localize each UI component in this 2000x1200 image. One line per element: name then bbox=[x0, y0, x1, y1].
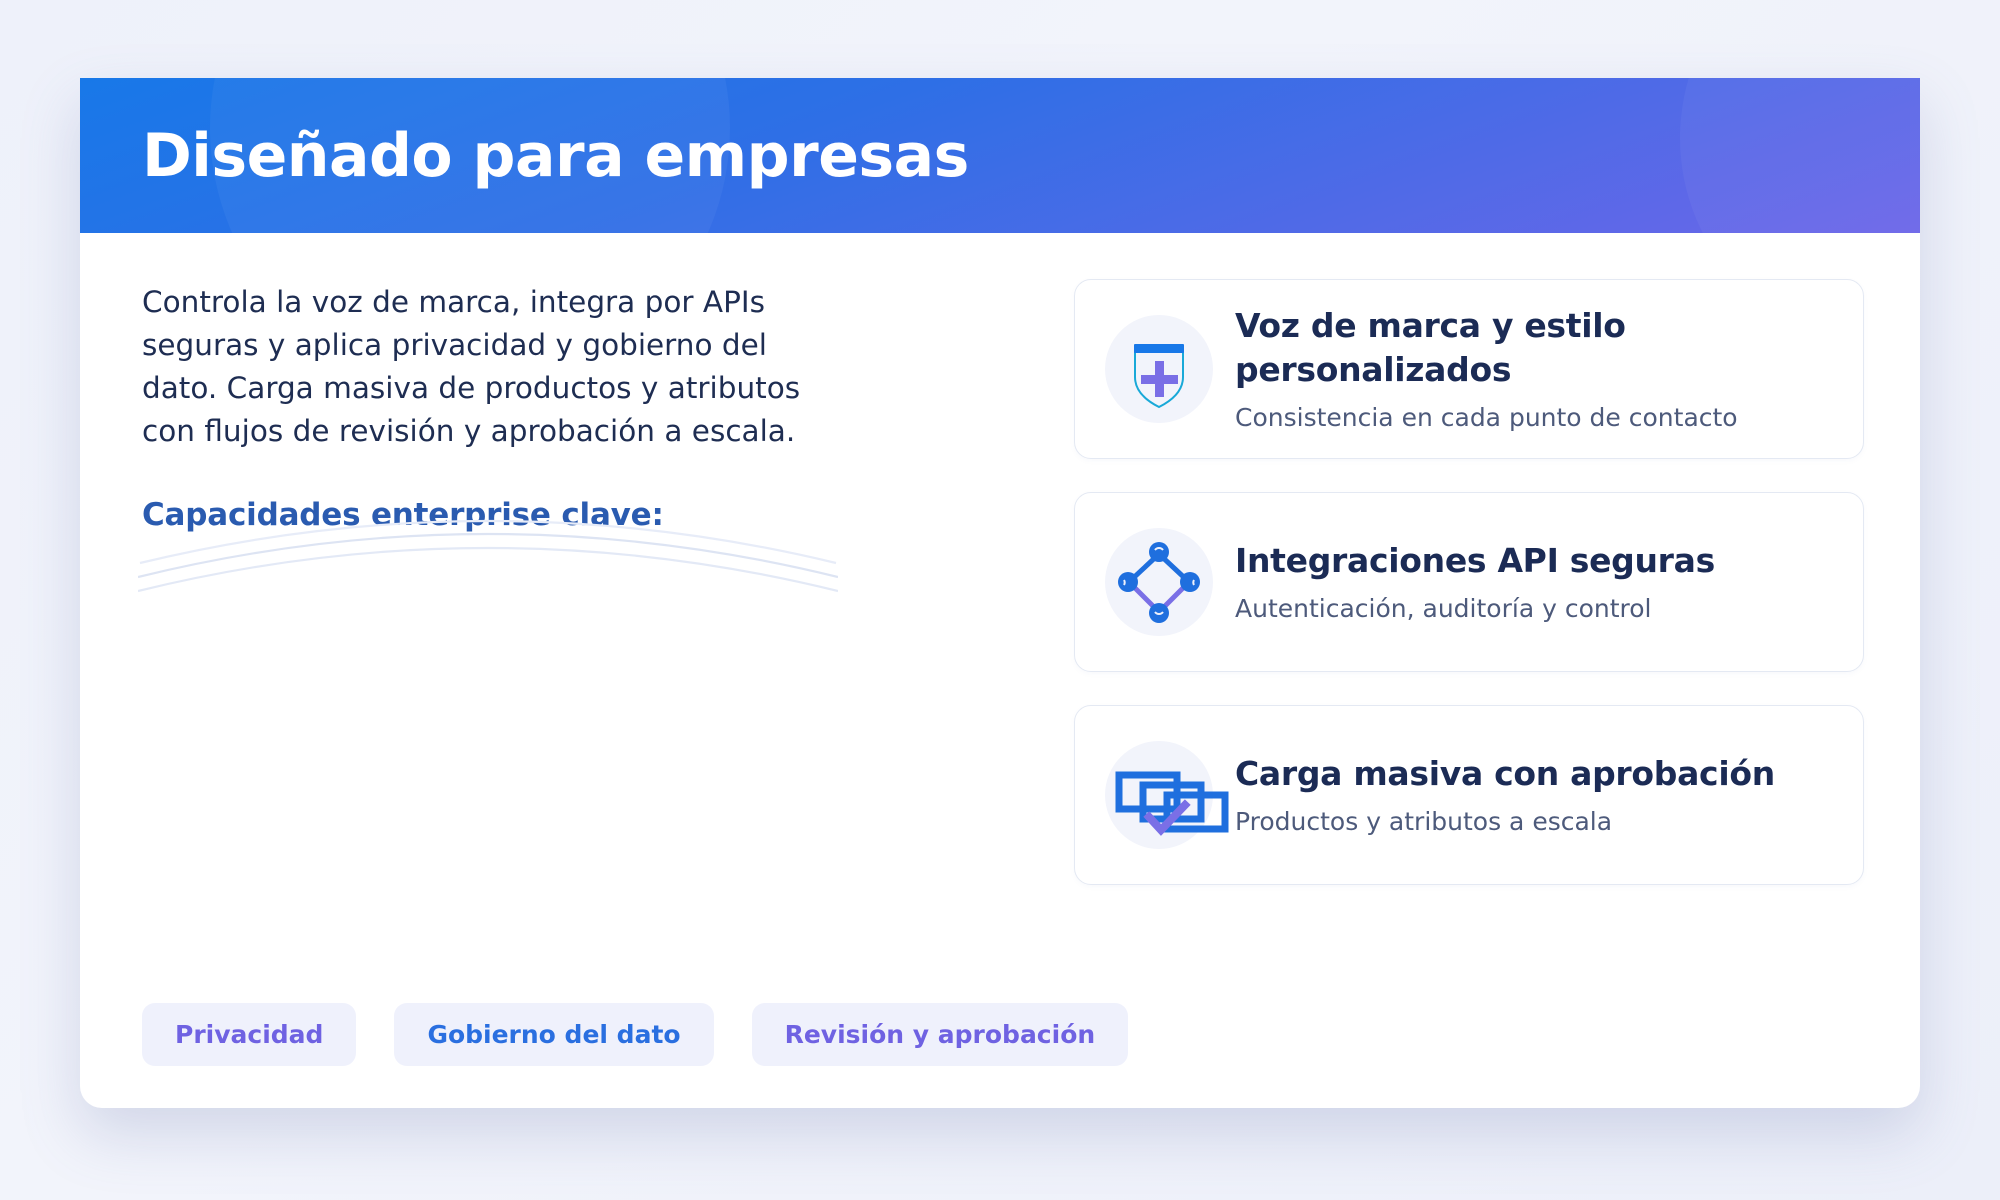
feature-subtitle: Autenticación, auditoría y control bbox=[1235, 593, 1715, 625]
tag-chip-row: Privacidad Gobierno del dato Revisión y … bbox=[142, 1003, 1128, 1066]
page-title: Diseñado para empresas bbox=[142, 121, 969, 191]
feature-card-list: Voz de marca y estilo personalizados Con… bbox=[1074, 279, 1864, 885]
feature-card-api-integrations[interactable]: Integraciones API seguras Autenticación,… bbox=[1074, 492, 1864, 672]
bulk-upload-check-icon bbox=[1105, 741, 1213, 849]
feature-subtitle: Consistencia en cada punto de contacto bbox=[1235, 402, 1833, 434]
feature-text: Voz de marca y estilo personalizados Con… bbox=[1235, 304, 1833, 434]
slide-header: Diseñado para empresas bbox=[80, 78, 1920, 233]
api-network-nodes-icon bbox=[1105, 528, 1213, 636]
feature-text: Integraciones API seguras Autenticación,… bbox=[1235, 539, 1715, 625]
feature-title: Carga masiva con aprobación bbox=[1235, 752, 1775, 796]
feature-title: Voz de marca y estilo personalizados bbox=[1235, 304, 1833, 392]
feature-title: Integraciones API seguras bbox=[1235, 539, 1715, 583]
lead-paragraph: Controla la voz de marca, integra por AP… bbox=[142, 281, 842, 453]
feature-subtitle: Productos y atributos a escala bbox=[1235, 806, 1775, 838]
chip-gobierno-del-dato[interactable]: Gobierno del dato bbox=[394, 1003, 713, 1066]
feature-card-bulk-upload[interactable]: Carga masiva con aprobación Productos y … bbox=[1074, 705, 1864, 885]
header-glow-circle-secondary bbox=[1680, 78, 1920, 233]
slide-card: Diseñado para empresas Controla la voz d… bbox=[80, 78, 1920, 1108]
section-heading: Capacidades enterprise clave: bbox=[142, 497, 992, 533]
chip-revision-y-aprobacion[interactable]: Revisión y aprobación bbox=[752, 1003, 1129, 1066]
feature-card-brand-voice[interactable]: Voz de marca y estilo personalizados Con… bbox=[1074, 279, 1864, 459]
left-column: Controla la voz de marca, integra por AP… bbox=[142, 281, 992, 533]
feature-text: Carga masiva con aprobación Productos y … bbox=[1235, 752, 1775, 838]
chip-privacidad[interactable]: Privacidad bbox=[142, 1003, 356, 1066]
shield-plus-icon bbox=[1105, 315, 1213, 423]
slide-body: Controla la voz de marca, integra por AP… bbox=[80, 233, 1920, 1108]
